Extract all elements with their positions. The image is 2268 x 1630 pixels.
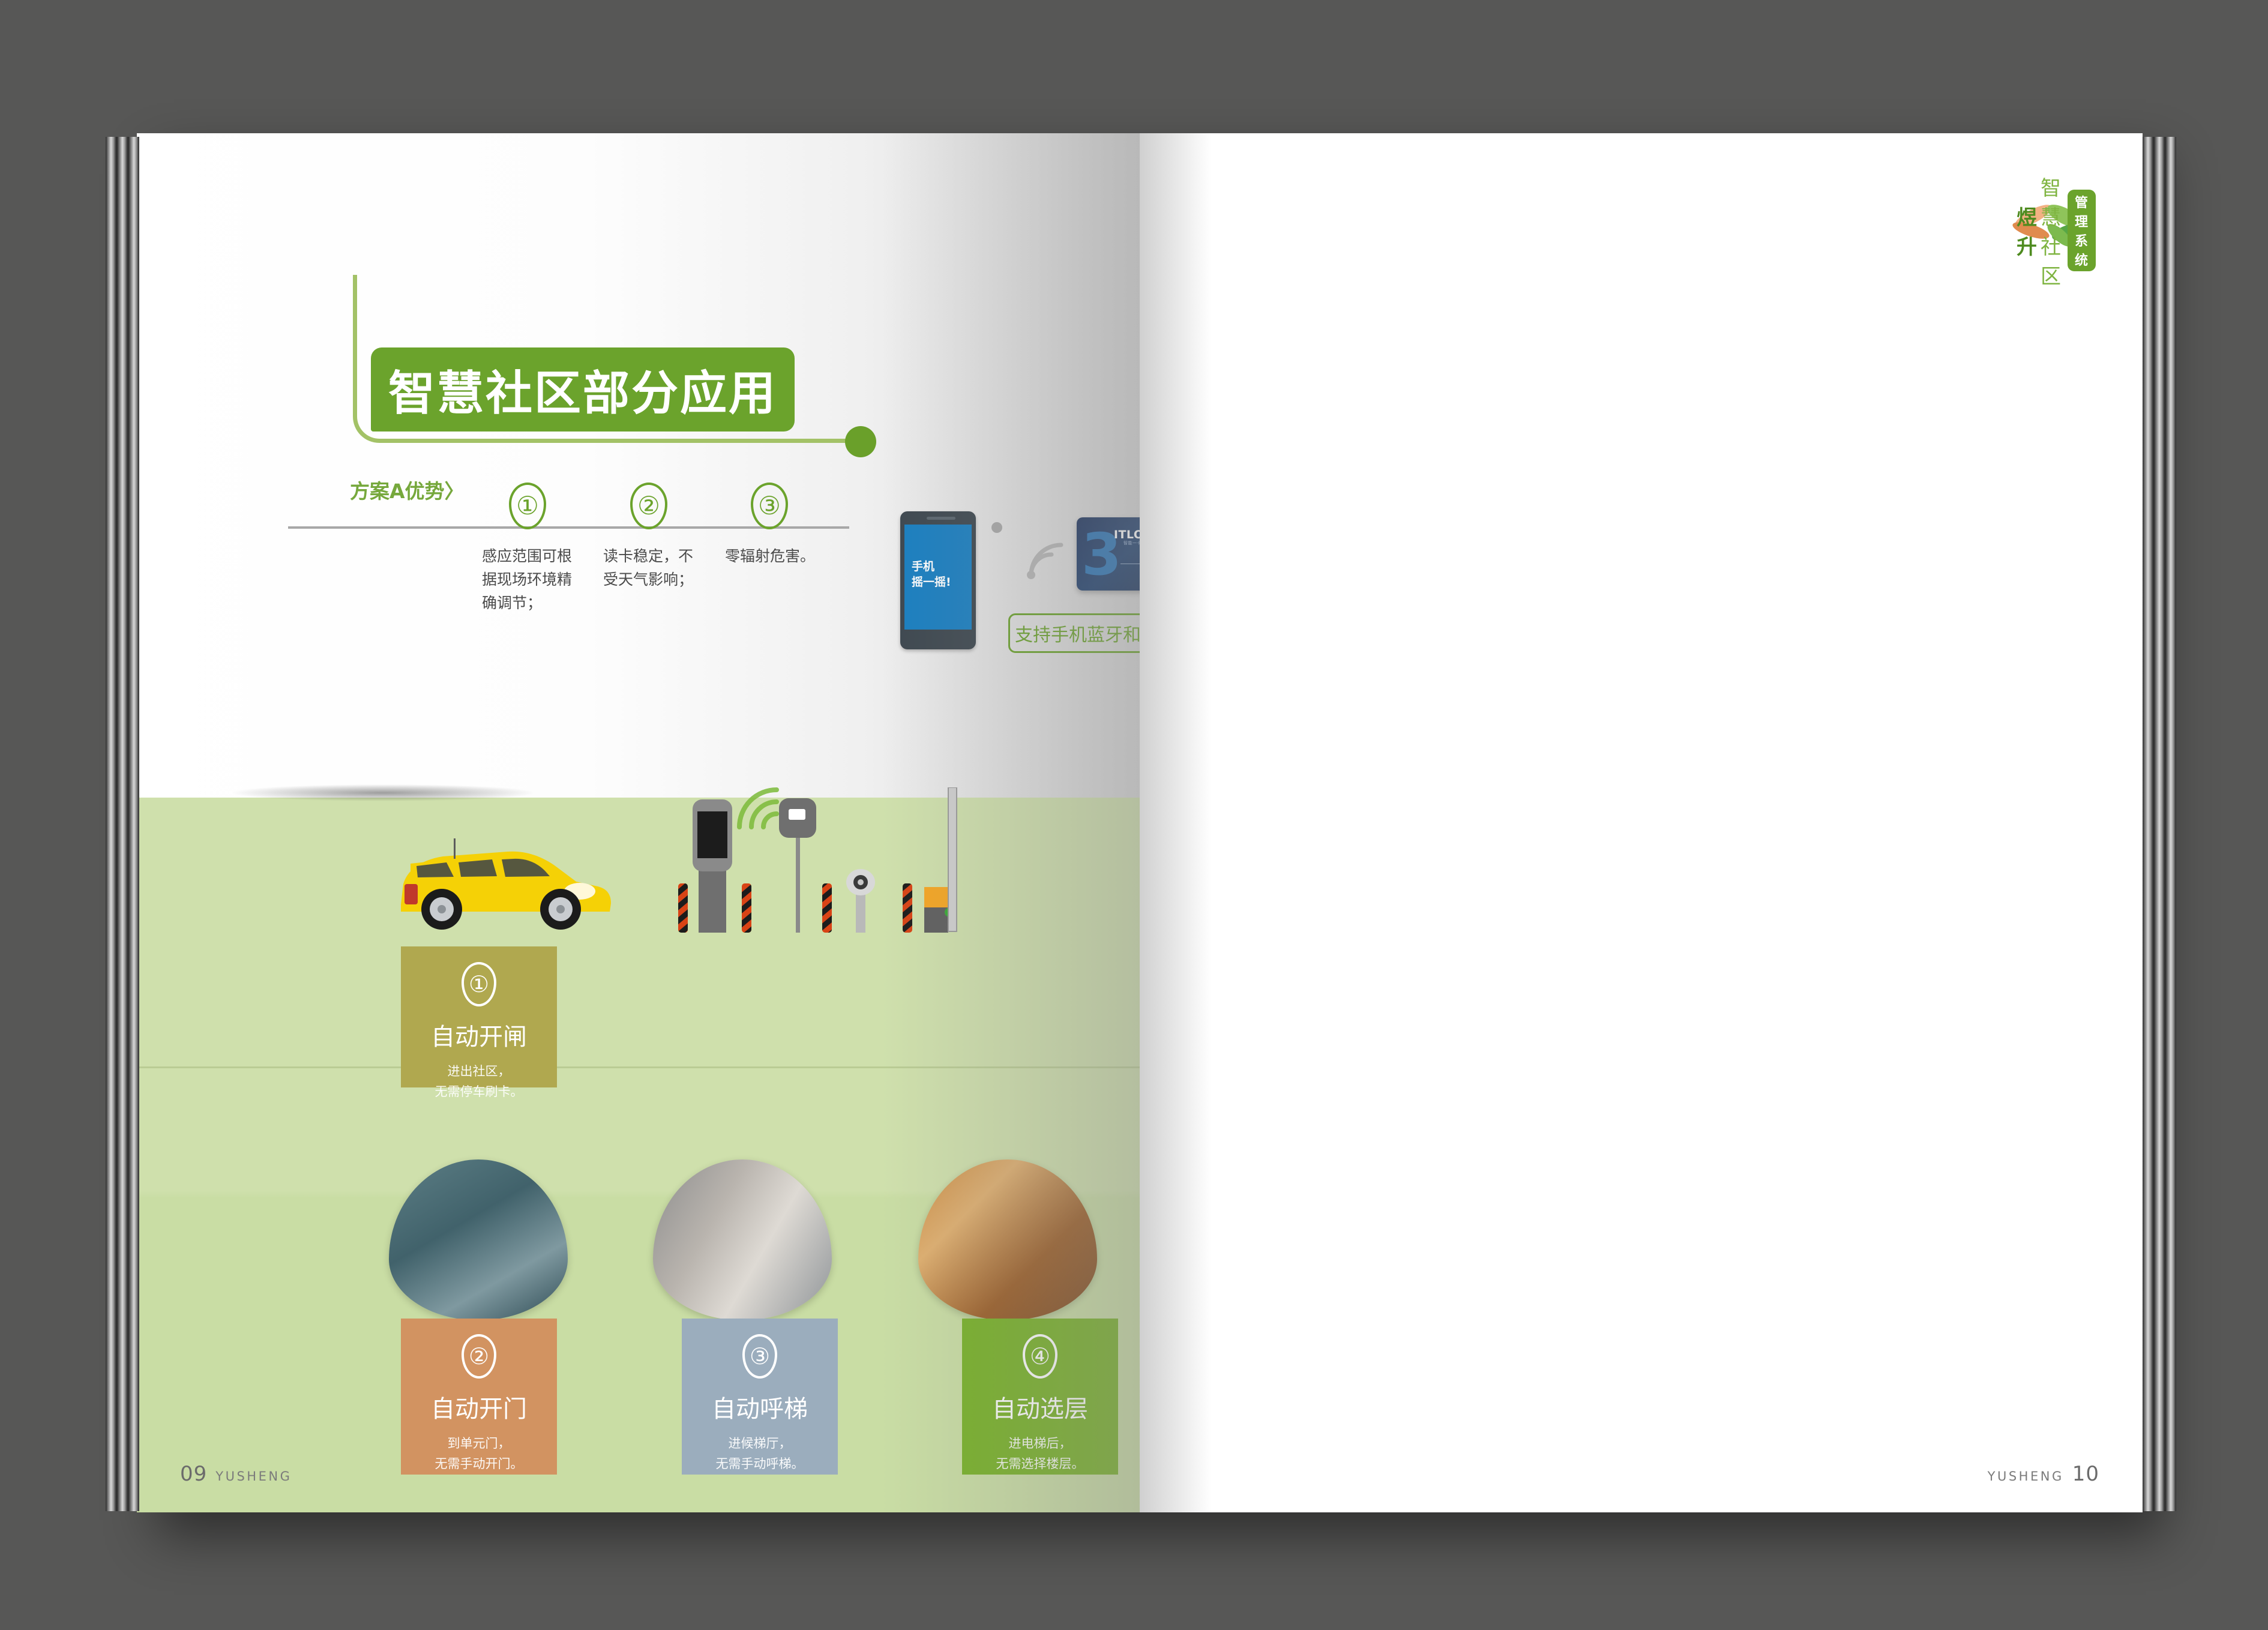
page-number: 10 bbox=[2072, 1462, 2099, 1486]
plan-a-chevron-icon: 〉 bbox=[445, 480, 465, 503]
feature-card-1: ① 自动开闸 进出社区， 无需停车刷卡。 bbox=[401, 946, 557, 1087]
badge-ring bbox=[742, 1334, 777, 1379]
plan-a-text-1: 感应范围可根 据现场环境精 确调节； bbox=[482, 545, 611, 615]
floor-divider-line bbox=[137, 1066, 1140, 1068]
badge-number: ① bbox=[516, 493, 539, 519]
feature-badge: ③ bbox=[742, 1334, 777, 1379]
page-title: 智慧社区部分应用 bbox=[371, 347, 795, 432]
feature-desc: 进电梯后， 无需选择楼层。 bbox=[962, 1434, 1118, 1474]
bluetooth-callout-text: 支持手机蓝牙和蓝牙卡 bbox=[1015, 620, 1140, 646]
gutter-shading-right bbox=[1140, 133, 1212, 1512]
feature-badge: ① bbox=[462, 962, 496, 1006]
title-dot-decoration bbox=[845, 426, 876, 457]
folio-right: YUSHENG 10 bbox=[1979, 1462, 2099, 1486]
car-shadow bbox=[233, 784, 533, 801]
logo-badge: 管理系统 bbox=[2068, 190, 2096, 271]
phone-speaker bbox=[927, 517, 955, 520]
page-edge-right bbox=[2143, 137, 2176, 1511]
hand-holding-phone-illustration: 手机 摇一摇! bbox=[889, 511, 1015, 685]
page-number: 09 bbox=[180, 1462, 207, 1486]
folio-left: 09 YUSHENG bbox=[180, 1462, 300, 1486]
phone-body: 手机 摇一摇! bbox=[900, 511, 976, 649]
brochure-spread: 智慧社区部分应用 方案A优势〉 ① ② ③ 感应范围可根 据现场环境精 确调节；… bbox=[137, 133, 2143, 1512]
badge-number: ② bbox=[637, 493, 660, 519]
feature-title: 自动开闸 bbox=[401, 1017, 557, 1052]
folio-brand: YUSHENG bbox=[1988, 1469, 2064, 1484]
card-brand: ITLONG旺龙 bbox=[1114, 526, 1140, 542]
feature-card-3: ③ 自动呼梯 进候梯厅， 无需手动呼梯。 bbox=[682, 1319, 838, 1475]
bluetooth-card-image: 3 ITLONG旺龙 智能一卡通系统综合方案提供商 汇聚·专注智能生活 蓝牙卡 bbox=[1077, 517, 1140, 591]
feature-desc: 进候梯厅， 无需手动呼梯。 bbox=[682, 1434, 838, 1474]
feature-badge: ④ bbox=[1023, 1334, 1057, 1379]
plan-a-badge-1: ① bbox=[509, 483, 546, 529]
page-title-text: 智慧社区部分应用 bbox=[388, 356, 777, 423]
wireless-signal-icon bbox=[1024, 540, 1069, 582]
badge-number: ③ bbox=[758, 493, 781, 519]
feature-card-2: ② 自动开门 到单元门， 无需手动开门。 bbox=[401, 1319, 557, 1475]
feature-title: 自动选层 bbox=[962, 1389, 1118, 1424]
badge-ring bbox=[1023, 1334, 1057, 1379]
plan-a-text-2: 读卡稳定，不 受天气影响； bbox=[603, 545, 732, 592]
plan-a-text-3: 零辐射危害。 bbox=[725, 545, 854, 568]
feature-title: 自动呼梯 bbox=[682, 1389, 838, 1424]
yellow-car-illustration bbox=[396, 832, 616, 934]
plan-a-badge-3: ③ bbox=[751, 483, 788, 529]
feature-desc: 进出社区， 无需停车刷卡。 bbox=[401, 1062, 557, 1102]
feature-desc: 到单元门， 无需手动开门。 bbox=[401, 1434, 557, 1474]
feature-title: 自动开门 bbox=[401, 1389, 557, 1424]
logo-company: 煜升 bbox=[2017, 201, 2037, 260]
page-left: 智慧社区部分应用 方案A优势〉 ① ② ③ 感应范围可根 据现场环境精 确调节；… bbox=[137, 133, 1140, 1512]
feature-card-4: ④ 自动选层 进电梯后， 无需选择楼层。 bbox=[962, 1319, 1118, 1475]
card-rule bbox=[1120, 564, 1140, 564]
page-edge-left bbox=[106, 137, 139, 1511]
feature-badge: ② bbox=[462, 1334, 496, 1379]
bluetooth-support-callout: 支持手机蓝牙和蓝牙卡 bbox=[1008, 613, 1140, 653]
logo-product: 智慧社区 bbox=[2041, 172, 2062, 289]
page-right: 煜升 智慧社区 管理系统 方案B优势〉 ① ② ③ 消费记录自动上传银联 平台，… bbox=[1140, 133, 2143, 1512]
parking-gate-equipment-illustration bbox=[665, 787, 1121, 949]
folio-brand: YUSHENG bbox=[215, 1469, 292, 1484]
plan-a-badge-2: ② bbox=[630, 483, 667, 529]
phone-screen: 手机 摇一摇! bbox=[904, 525, 972, 630]
phone-screen-line2: 摇一摇! bbox=[904, 575, 972, 591]
plan-a-label: 方案A优势〉 bbox=[350, 475, 465, 504]
badge-ring bbox=[462, 962, 496, 1006]
card-brand-sub: 智能一卡通系统综合方案提供商 bbox=[1123, 540, 1140, 546]
plan-a-label-text: 方案A优势 bbox=[350, 480, 445, 503]
phone-screen-line1: 手机 bbox=[904, 525, 972, 575]
badge-ring bbox=[462, 1334, 496, 1379]
